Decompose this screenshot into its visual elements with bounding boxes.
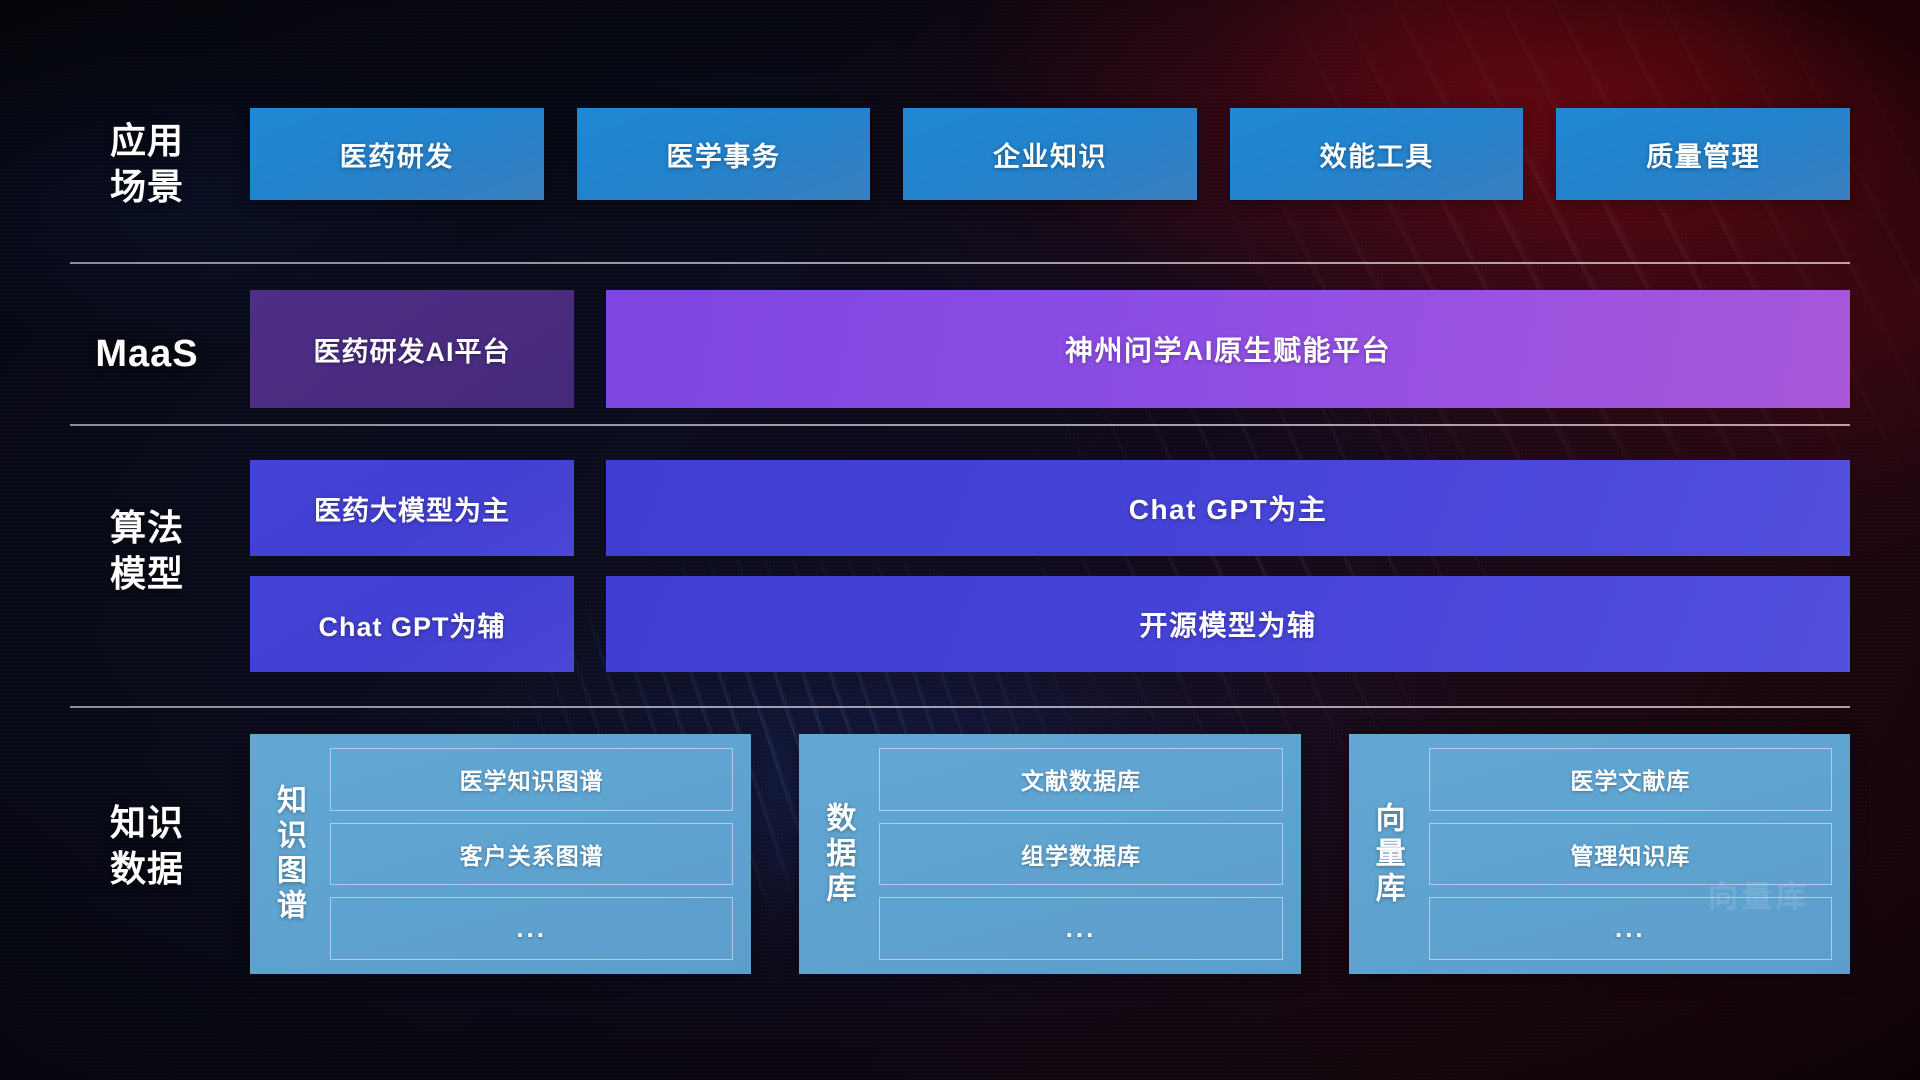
algo-box-pharma-large-model-primary[interactable]: 医药大模型为主 bbox=[250, 460, 574, 556]
maas-box-pharma-ai-platform[interactable]: 医药研发AI平台 bbox=[250, 290, 574, 408]
app-box-efficiency-tools[interactable]: 效能工具 bbox=[1230, 108, 1524, 200]
knowledge-card-label-knowledge-graph: 知识图谱 bbox=[260, 748, 316, 960]
algo-box-chatgpt-primary[interactable]: Chat GPT为主 bbox=[606, 460, 1850, 556]
row-label-application-line2: 场景 bbox=[72, 164, 222, 210]
divider-algorithm-knowledge bbox=[70, 706, 1850, 708]
maas-box-shenzhou-wenxue-platform[interactable]: 神州问学AI原生赋能平台 bbox=[606, 290, 1850, 408]
row-label-maas: MaaS bbox=[72, 330, 222, 379]
knowledge-item-more-vector-store[interactable]: ... bbox=[1429, 897, 1832, 960]
algo-box-chatgpt-secondary[interactable]: Chat GPT为辅 bbox=[250, 576, 574, 672]
application-scenario-row: 医药研发 医学事务 企业知识 效能工具 质量管理 bbox=[250, 108, 1850, 200]
knowledge-item-customer-relation-graph[interactable]: 客户关系图谱 bbox=[330, 823, 733, 886]
app-box-enterprise-knowledge[interactable]: 企业知识 bbox=[903, 108, 1197, 200]
knowledge-item-medical-knowledge-graph[interactable]: 医学知识图谱 bbox=[330, 748, 733, 811]
knowledge-item-literature-database[interactable]: 文献数据库 bbox=[879, 748, 1282, 811]
divider-maas-algorithm bbox=[70, 424, 1850, 426]
algorithm-row-secondary: Chat GPT为辅 开源模型为辅 bbox=[250, 576, 1850, 672]
knowledge-card-label-database: 数据库 bbox=[809, 748, 865, 960]
architecture-diagram: 应用 场景 医药研发 医学事务 企业知识 效能工具 质量管理 MaaS 医药研发… bbox=[0, 0, 1920, 1080]
maas-row: 医药研发AI平台 神州问学AI原生赋能平台 bbox=[250, 290, 1850, 408]
knowledge-item-more-knowledge-graph[interactable]: ... bbox=[330, 897, 733, 960]
algorithm-row-primary: 医药大模型为主 Chat GPT为主 bbox=[250, 460, 1850, 556]
row-label-algorithm-line2: 模型 bbox=[72, 551, 222, 597]
knowledge-card-items-vector-store: 医学文献库 管理知识库 ... bbox=[1429, 748, 1832, 960]
algo-box-opensource-secondary[interactable]: 开源模型为辅 bbox=[606, 576, 1850, 672]
algorithm-model-section: 医药大模型为主 Chat GPT为主 Chat GPT为辅 开源模型为辅 bbox=[250, 460, 1850, 672]
knowledge-card-label-vector-store: 向量库 bbox=[1359, 748, 1415, 960]
knowledge-item-management-knowledge-store[interactable]: 管理知识库 bbox=[1429, 823, 1832, 886]
knowledge-item-more-database[interactable]: ... bbox=[879, 897, 1282, 960]
knowledge-card-vector-store[interactable]: 向量库 医学文献库 管理知识库 ... 向量库 bbox=[1349, 734, 1850, 974]
row-label-knowledge: 知识 数据 bbox=[72, 800, 222, 892]
row-label-algorithm: 算法 模型 bbox=[72, 505, 222, 597]
knowledge-data-section: 知识图谱 医学知识图谱 客户关系图谱 ... 数据库 文献数据库 组学数据库 .… bbox=[250, 734, 1850, 974]
row-label-application-line1: 应用 bbox=[72, 118, 222, 164]
row-label-application: 应用 场景 bbox=[72, 118, 222, 210]
app-box-quality-management[interactable]: 质量管理 bbox=[1556, 108, 1850, 200]
knowledge-card-items-database: 文献数据库 组学数据库 ... bbox=[879, 748, 1282, 960]
knowledge-item-medical-literature-store[interactable]: 医学文献库 bbox=[1429, 748, 1832, 811]
knowledge-card-knowledge-graph[interactable]: 知识图谱 医学知识图谱 客户关系图谱 ... bbox=[250, 734, 751, 974]
knowledge-card-items-knowledge-graph: 医学知识图谱 客户关系图谱 ... bbox=[330, 748, 733, 960]
app-box-medical-affairs[interactable]: 医学事务 bbox=[577, 108, 871, 200]
row-label-algorithm-line1: 算法 bbox=[72, 505, 222, 551]
knowledge-card-database[interactable]: 数据库 文献数据库 组学数据库 ... bbox=[799, 734, 1300, 974]
row-label-knowledge-line2: 数据 bbox=[72, 846, 222, 892]
row-label-knowledge-line1: 知识 bbox=[72, 800, 222, 846]
knowledge-item-omics-database[interactable]: 组学数据库 bbox=[879, 823, 1282, 886]
app-box-medical-rd[interactable]: 医药研发 bbox=[250, 108, 544, 200]
divider-application-maas bbox=[70, 262, 1850, 264]
